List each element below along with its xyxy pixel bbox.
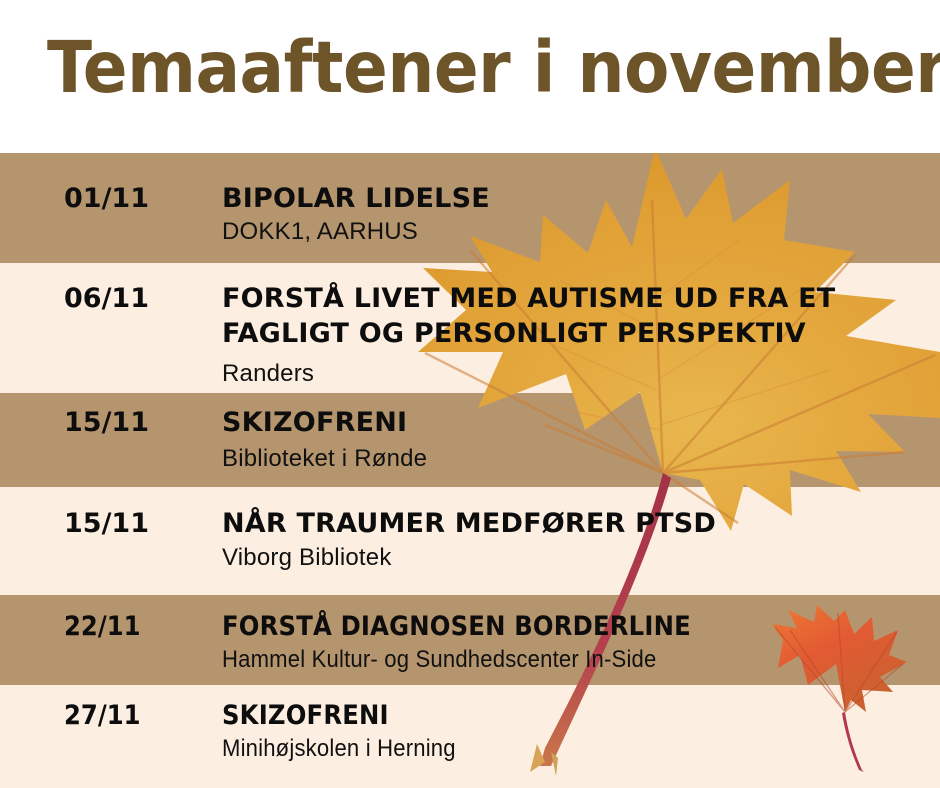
event-details: BIPOLAR LIDELSE [222, 181, 932, 216]
schedule-row[interactable]: 22/11FORSTÅ DIAGNOSEN BORDERLINEHammel K… [0, 595, 940, 685]
event-date: 01/11 [64, 183, 149, 215]
event-title: SKIZOFRENI [222, 405, 932, 440]
event-title: FORSTÅ DIAGNOSEN BORDERLINE [222, 609, 861, 644]
event-details: FORSTÅ DIAGNOSEN BORDERLINE [222, 609, 932, 644]
event-title: BIPOLAR LIDELSE [222, 181, 932, 216]
event-title: NÅR TRAUMER MEDFØRER PTSD [222, 506, 932, 541]
title-banner: Temaaftener i november [0, 0, 940, 153]
schedule-row[interactable]: 15/11NÅR TRAUMER MEDFØRER PTSDViborg Bib… [0, 487, 940, 595]
event-date: 22/11 [64, 611, 141, 643]
event-venue: Minihøjskolen i Herning [222, 733, 456, 765]
schedule-row[interactable]: 06/11FORSTÅ LIVET MED AUTISME UD FRA ETF… [0, 263, 940, 393]
poster-canvas: Temaaftener i november 01/11BIPOLAR LIDE… [0, 0, 940, 788]
event-venue: Randers [222, 358, 314, 390]
event-venue: Biblioteket i Rønde [222, 443, 427, 475]
event-details: FORSTÅ LIVET MED AUTISME UD FRA ETFAGLIG… [222, 281, 932, 351]
event-title: FAGLIGT OG PERSONLIGT PERSPEKTIV [222, 316, 932, 351]
event-venue: Viborg Bibliotek [222, 542, 392, 574]
page-title: Temaaftener i november [47, 26, 940, 110]
schedule-row[interactable]: 01/11BIPOLAR LIDELSEDOKK1, AARHUS [0, 153, 940, 263]
event-venue: Hammel Kultur- og Sundhedscenter In-Side [222, 644, 656, 676]
event-date: 15/11 [64, 508, 149, 540]
event-title: SKIZOFRENI [222, 698, 861, 733]
event-venue: DOKK1, AARHUS [222, 216, 418, 248]
event-details: SKIZOFRENI [222, 405, 932, 440]
event-date: 15/11 [64, 407, 149, 439]
event-details: SKIZOFRENI [222, 698, 932, 733]
schedule-row[interactable]: 27/11SKIZOFRENIMinihøjskolen i Herning [0, 685, 940, 788]
event-date: 06/11 [64, 283, 149, 315]
event-title: FORSTÅ LIVET MED AUTISME UD FRA ET [222, 281, 932, 316]
schedule-row[interactable]: 15/11SKIZOFRENIBiblioteket i Rønde [0, 393, 940, 487]
event-date: 27/11 [64, 700, 141, 732]
event-details: NÅR TRAUMER MEDFØRER PTSD [222, 506, 932, 541]
